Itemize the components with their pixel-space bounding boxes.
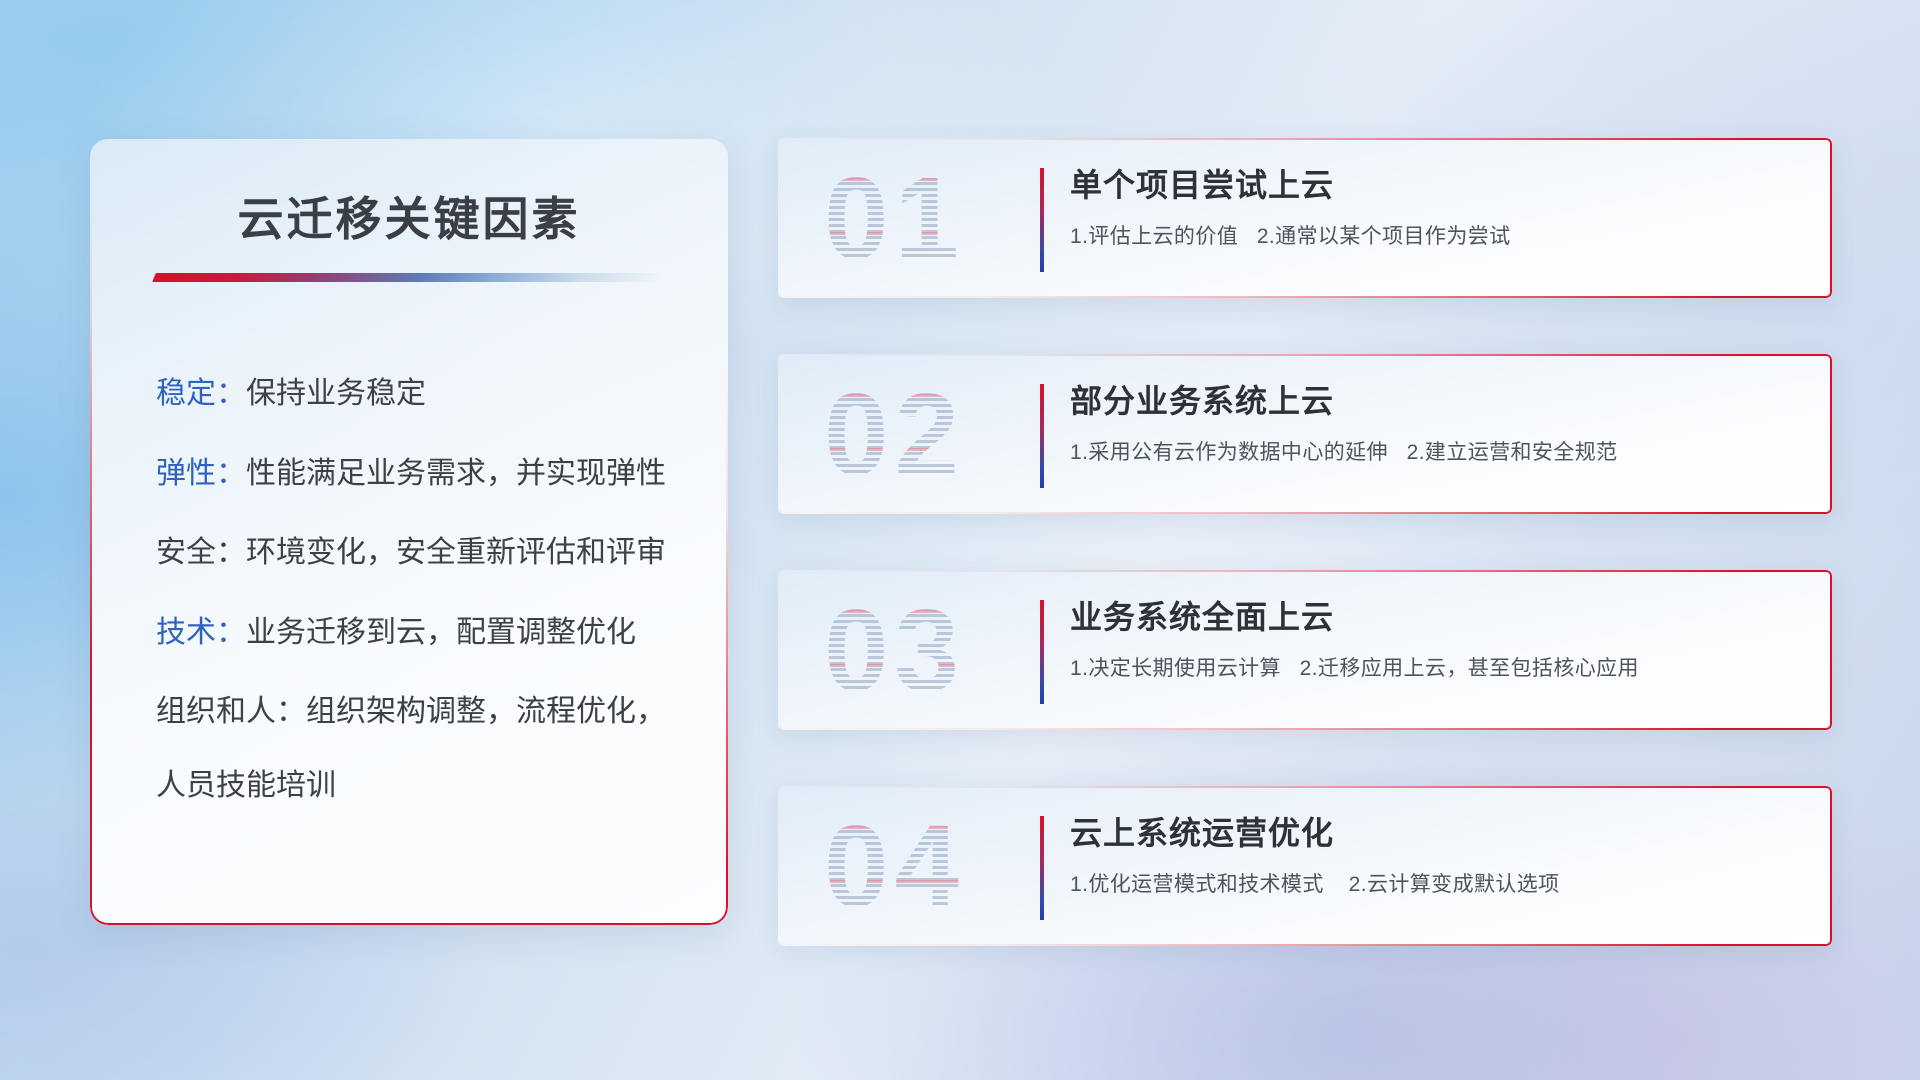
factor-text: 性能满足业务需求，并实现弹性: [246, 457, 666, 490]
list-item: 技术：业务迁移到云，配置调整优化: [156, 610, 692, 656]
factor-text: 保持业务稳定: [246, 377, 426, 410]
factor-label: 技术：: [156, 616, 246, 649]
list-item: 弹性：性能满足业务需求，并实现弹性: [156, 451, 692, 497]
factor-list: 稳定：保持业务稳定 弹性：性能满足业务需求，并实现弹性 安全：环境变化，安全重新…: [156, 371, 692, 809]
list-item: 安全：环境变化，安全重新评估和评审: [156, 530, 692, 576]
stage-number-watermark: 02: [824, 368, 1044, 500]
stage-card-body: 部分业务系统上云 1.采用公有云作为数据中心的延伸 2.建立运营和安全规范: [1070, 376, 1806, 466]
factor-label: 组织和人：: [156, 695, 306, 728]
stage-accent-bar: [1040, 600, 1044, 704]
stage-card-body: 业务系统全面上云 1.决定长期使用云计算 2.迁移应用上云，甚至包括核心应用: [1070, 592, 1806, 682]
stage-subtitle: 1.采用公有云作为数据中心的延伸 2.建立运营和安全规范: [1070, 436, 1806, 466]
stage-card[interactable]: 02 02 部分业务系统上云 1.采用公有云作为数据中心的延伸 2.建立运营和安…: [778, 354, 1832, 514]
factor-label: 弹性：: [156, 457, 246, 490]
stage-card-list: 01 01 单个项目尝试上云 1.评估上云的价值 2.通常以某个项目作为尝试 0…: [778, 138, 1832, 946]
stage-subtitle: 1.决定长期使用云计算 2.迁移应用上云，甚至包括核心应用: [1070, 652, 1806, 682]
stage-number-watermark: 01: [824, 152, 1044, 284]
title-underline-rule: [152, 273, 666, 282]
stage-subtitle: 1.优化运营模式和技术模式 2.云计算变成默认选项: [1070, 868, 1806, 898]
stage-title: 部分业务系统上云: [1070, 376, 1806, 422]
stage-title: 云上系统运营优化: [1070, 808, 1806, 854]
factor-text: 业务迁移到云，配置调整优化: [246, 616, 636, 649]
stage-card[interactable]: 03 03 业务系统全面上云 1.决定长期使用云计算 2.迁移应用上云，甚至包括…: [778, 570, 1832, 730]
stage-title: 业务系统全面上云: [1070, 592, 1806, 638]
stage-subtitle: 1.评估上云的价值 2.通常以某个项目作为尝试: [1070, 220, 1806, 250]
stage-title: 单个项目尝试上云: [1070, 160, 1806, 206]
key-factors-panel: 云迁移关键因素 稳定：保持业务稳定 弹性：性能满足业务需求，并实现弹性 安全：环…: [90, 139, 728, 925]
factor-label: 安全：: [156, 536, 246, 569]
stage-number-watermark: 04: [824, 800, 1044, 932]
factor-text-continuation: 人员技能培训: [156, 763, 692, 809]
stage-card-body: 单个项目尝试上云 1.评估上云的价值 2.通常以某个项目作为尝试: [1070, 160, 1806, 250]
stage-accent-bar: [1040, 816, 1044, 920]
factor-label: 稳定：: [156, 377, 246, 410]
factor-text: 环境变化，安全重新评估和评审: [246, 536, 666, 569]
stage-card-body: 云上系统运营优化 1.优化运营模式和技术模式 2.云计算变成默认选项: [1070, 808, 1806, 898]
factor-text: 组织架构调整，流程优化，: [306, 695, 666, 728]
stage-card[interactable]: 04 04 云上系统运营优化 1.优化运营模式和技术模式 2.云计算变成默认选项: [778, 786, 1832, 946]
stage-accent-bar: [1040, 168, 1044, 272]
stage-card[interactable]: 01 01 单个项目尝试上云 1.评估上云的价值 2.通常以某个项目作为尝试: [778, 138, 1832, 298]
page-title: 云迁移关键因素: [90, 183, 728, 249]
stage-number-watermark: 03: [824, 584, 1044, 716]
stage-accent-bar: [1040, 384, 1044, 488]
list-item: 稳定：保持业务稳定: [156, 371, 692, 417]
list-item: 组织和人：组织架构调整，流程优化，: [156, 689, 692, 735]
